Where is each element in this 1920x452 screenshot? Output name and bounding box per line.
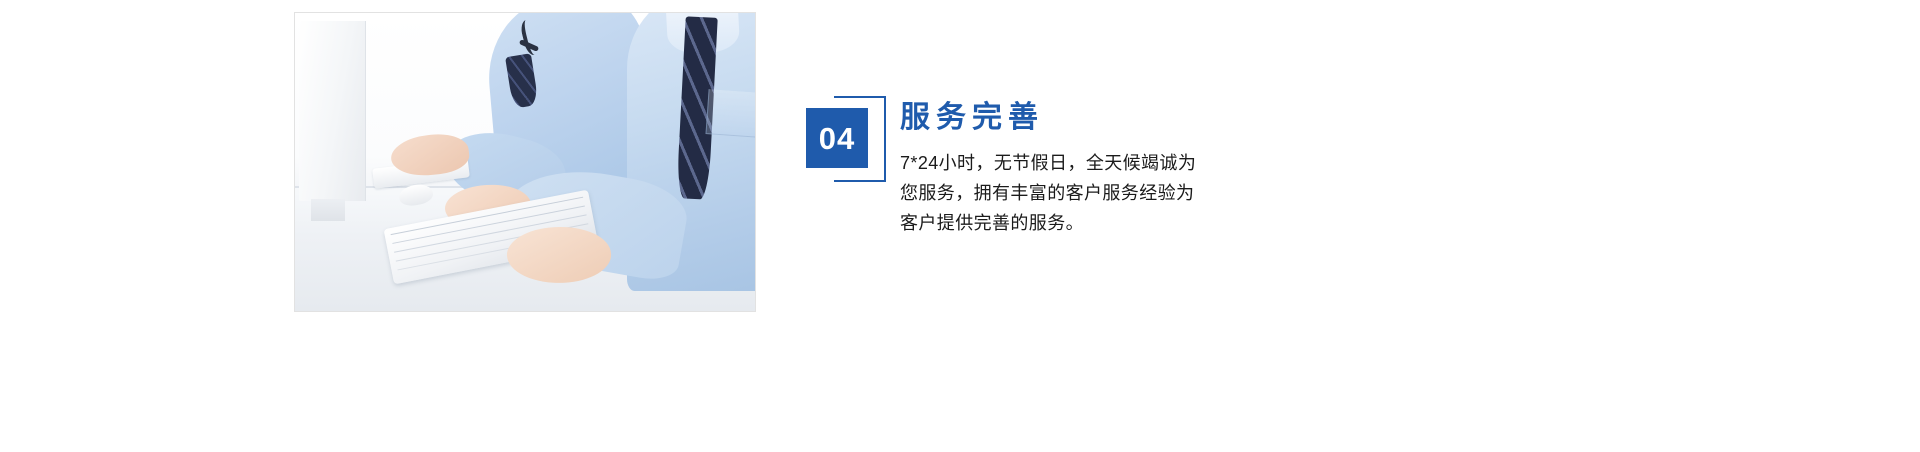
description-line-3: 客户提供完善的服务。: [900, 208, 1306, 238]
description-line-1: 7*24小时，无节假日，全天候竭诚为: [900, 148, 1306, 178]
service-photo: [295, 13, 755, 311]
monitor-stand-icon: [311, 199, 345, 221]
section-description: 7*24小时，无节假日，全天候竭诚为 您服务，拥有丰富的客户服务经验为 客户提供…: [900, 148, 1306, 238]
monitor-icon: [299, 21, 366, 201]
badge-square: 04: [806, 108, 868, 168]
shirt-pocket: [705, 89, 755, 138]
section-header: 04 服务完善 7*24小时，无节假日，全天候竭诚为 您服务，拥有丰富的客户服务…: [806, 96, 1506, 172]
badge-number: 04: [819, 123, 855, 154]
section-content: 04 服务完善 7*24小时，无节假日，全天候竭诚为 您服务，拥有丰富的客户服务…: [806, 96, 1506, 172]
promo-section: 04 服务完善 7*24小时，无节假日，全天候竭诚为 您服务，拥有丰富的客户服务…: [0, 0, 1920, 452]
step-badge: 04: [806, 96, 888, 182]
service-photo-frame: [294, 12, 756, 312]
description-line-2: 您服务，拥有丰富的客户服务经验为: [900, 178, 1306, 208]
section-title: 服务完善: [900, 100, 1044, 136]
